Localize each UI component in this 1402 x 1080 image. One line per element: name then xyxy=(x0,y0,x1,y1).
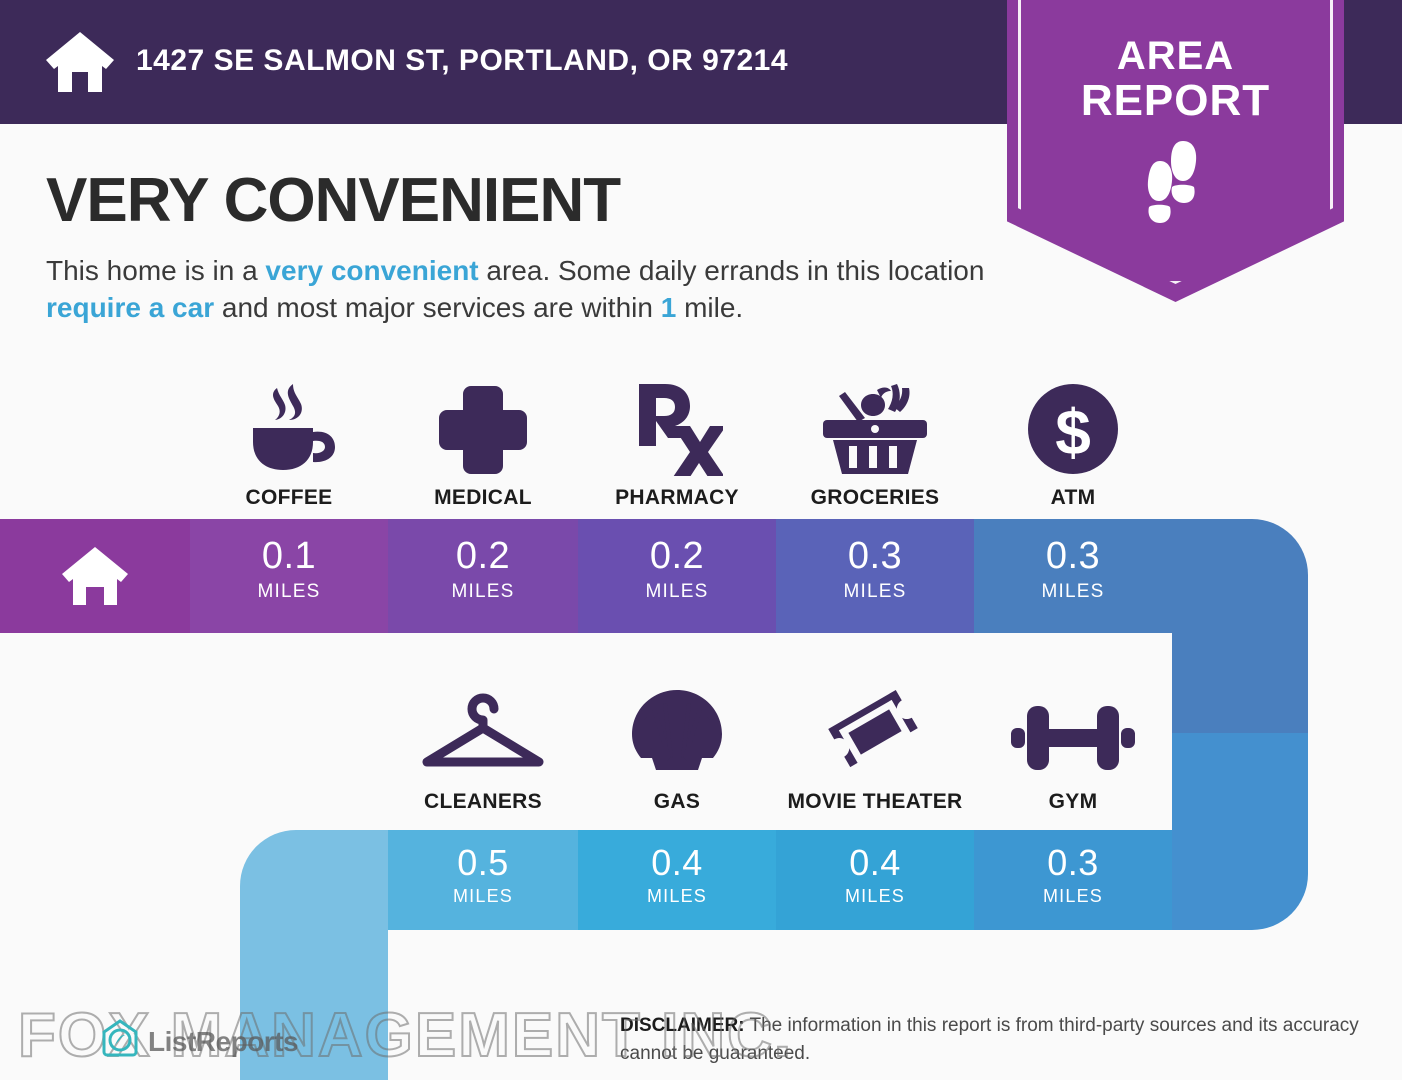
distance-cell-atm: 0.3 MILES xyxy=(974,519,1172,633)
distance-cell-movie-theater: 0.4 MILES xyxy=(776,830,974,930)
distance-cell-gym: 0.3 MILES xyxy=(974,830,1172,930)
distance-cell-gas: 0.4 MILES xyxy=(578,830,776,930)
distance-cell-pharmacy: 0.2 MILES xyxy=(578,519,776,633)
distance-cell-medical: 0.2 MILES xyxy=(388,519,578,633)
ribbon-connector-lower xyxy=(1172,733,1308,833)
home-icon xyxy=(0,545,190,612)
distance-unit: MILES xyxy=(388,581,578,603)
distance-unit: MILES xyxy=(974,581,1172,603)
listreports-brand-text: ListReports xyxy=(148,1026,298,1058)
distance-value: 0.3 xyxy=(776,535,974,578)
distance-value: 0.3 xyxy=(974,842,1172,884)
distance-unit: MILES xyxy=(974,886,1172,907)
distance-value: 0.2 xyxy=(578,535,776,578)
distance-unit: MILES xyxy=(776,886,974,907)
ribbon-home-cell xyxy=(0,519,190,633)
listreports-watermark: ListReports xyxy=(100,1018,298,1065)
distance-value: 0.1 xyxy=(190,535,388,578)
distance-value: 0.4 xyxy=(578,842,776,884)
area-report-page: 1427 SE SALMON ST, PORTLAND, OR 97214 AR… xyxy=(0,0,1402,1080)
distance-value: 0.3 xyxy=(974,535,1172,578)
listreports-house-logo-icon xyxy=(100,1018,140,1065)
distance-value: 0.4 xyxy=(776,842,974,884)
distance-value: 0.2 xyxy=(388,535,578,578)
distance-cell-cleaners: 0.5 MILES xyxy=(388,830,578,930)
ribbon-corner-left xyxy=(240,830,388,930)
ribbon-corner-top-right xyxy=(1172,519,1308,633)
distance-unit: MILES xyxy=(578,886,776,907)
distance-cell-groceries: 0.3 MILES xyxy=(776,519,974,633)
distance-unit: MILES xyxy=(578,581,776,603)
distance-cell-coffee: 0.1 MILES xyxy=(190,519,388,633)
distance-unit: MILES xyxy=(776,581,974,603)
ribbon-corner-bottom-right xyxy=(1172,830,1308,930)
distance-unit: MILES xyxy=(190,581,388,603)
distance-ribbon: 0.1 MILES 0.2 MILES 0.2 MILES 0.3 MILES … xyxy=(0,0,1402,1080)
distance-value: 0.5 xyxy=(388,842,578,884)
distance-unit: MILES xyxy=(388,886,578,907)
ribbon-connector-upper xyxy=(1172,633,1308,733)
